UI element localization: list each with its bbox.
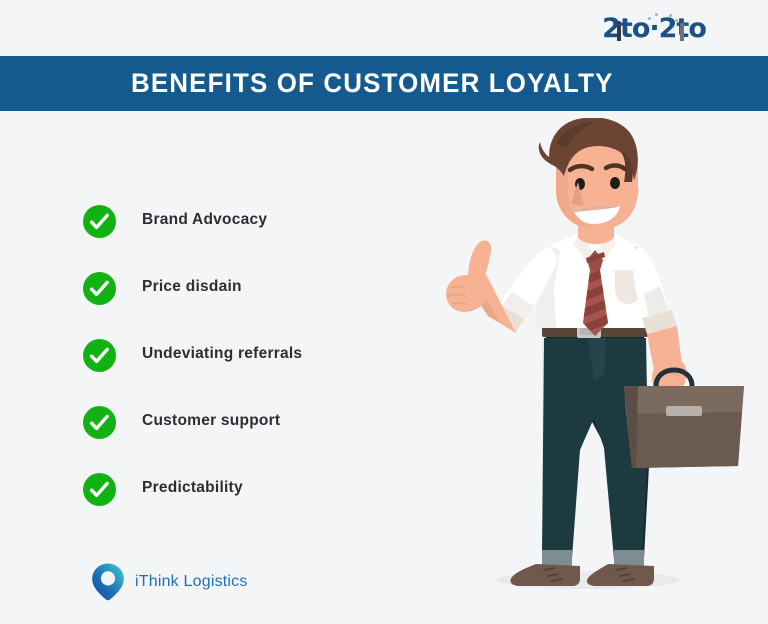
check-circle-icon <box>83 272 116 305</box>
businessman-illustration <box>438 118 768 598</box>
list-item-label: Undeviating referrals <box>142 345 302 363</box>
footer-brand-logo: iThink Logistics <box>90 562 248 602</box>
check-circle-icon <box>83 205 116 238</box>
footer-brand-name: iThink Logistics <box>135 573 248 591</box>
infographic-canvas: 2to·2to BENEFITS OF CUSTOMER LOYALTY Bra… <box>0 0 768 624</box>
list-item-label: Brand Advocacy <box>142 211 267 229</box>
title-banner: BENEFITS OF CUSTOMER LOYALTY <box>0 56 768 111</box>
list-item-label: Customer support <box>142 412 280 430</box>
brand-logo-figure-left <box>617 25 621 41</box>
map-pin-icon <box>90 562 126 602</box>
check-circle-icon <box>83 339 116 372</box>
check-circle-icon <box>83 473 116 506</box>
brand-logo: 2to·2to <box>588 12 720 52</box>
brand-logo-text: 2to·2to <box>588 14 720 44</box>
list-item: Predictability <box>83 473 413 540</box>
brand-logo-figure-right <box>680 27 684 41</box>
check-circle-icon <box>83 406 116 439</box>
page-title: BENEFITS OF CUSTOMER LOYALTY <box>131 68 614 99</box>
list-item: Brand Advocacy <box>83 205 413 272</box>
list-item: Customer support <box>83 406 413 473</box>
list-item-label: Price disdain <box>142 278 242 296</box>
list-item-label: Predictability <box>142 479 243 497</box>
list-item: Price disdain <box>83 272 413 339</box>
benefits-list: Brand Advocacy Price disdain Undeviating… <box>83 205 413 540</box>
list-item: Undeviating referrals <box>83 339 413 406</box>
